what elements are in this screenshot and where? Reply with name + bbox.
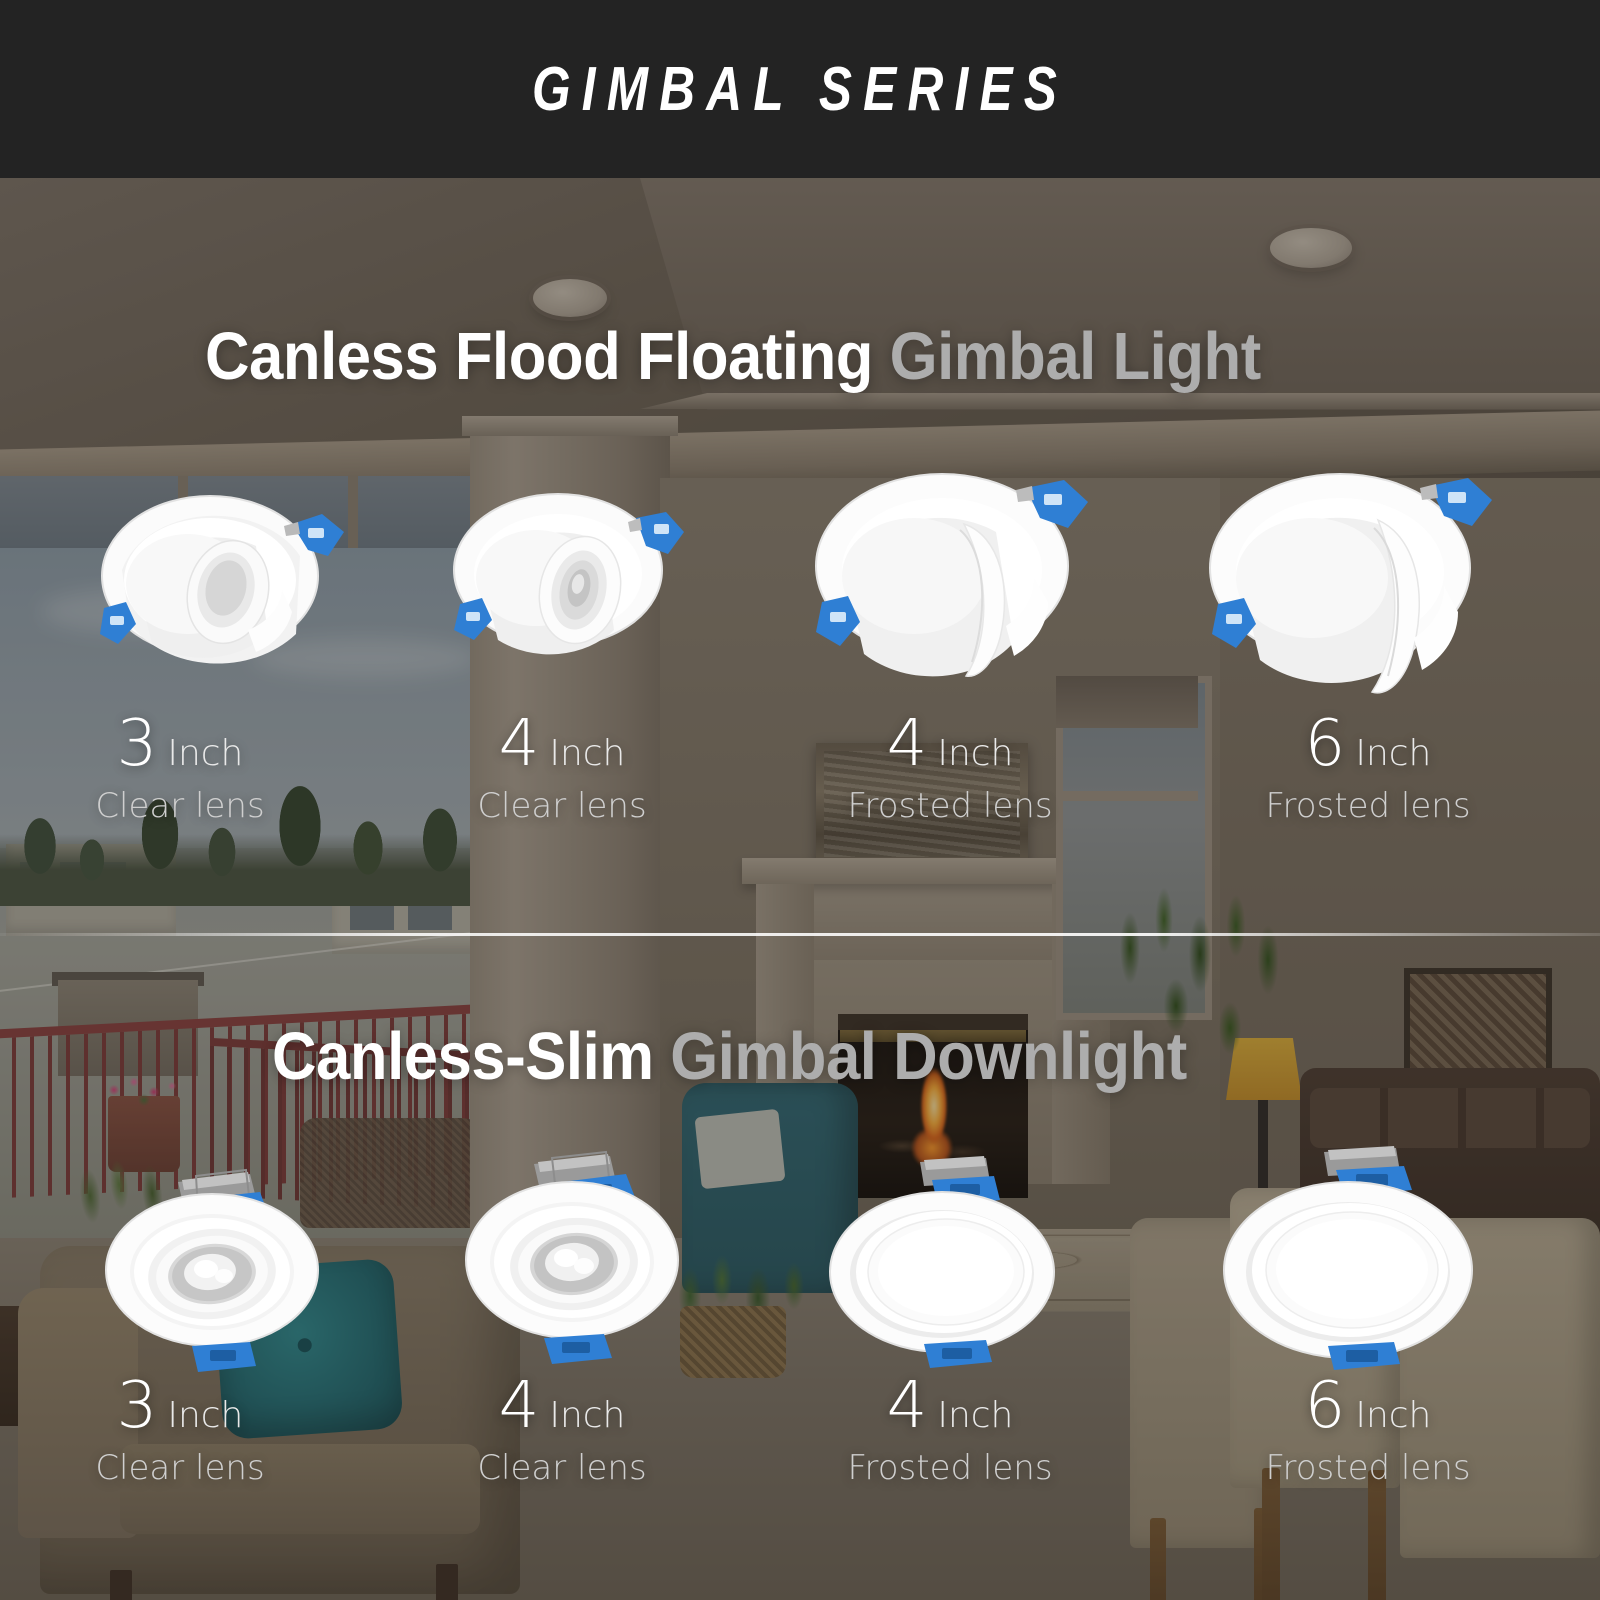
section-2-title: Canless-Slim Gimbal Downlight [272, 1018, 1187, 1095]
size-value: 4 [887, 707, 928, 781]
section-divider [0, 933, 1600, 936]
series-title: GIMBAL SERIES [532, 54, 1068, 125]
size-value: 4 [499, 707, 540, 781]
product-image-slim-4in-frosted[interactable] [820, 1148, 1090, 1360]
size-unit: Inch [937, 733, 1013, 774]
caption-flood-4in-frosted: 4Inch Frosted lens [800, 712, 1100, 826]
lens-type: Frosted lens [800, 786, 1100, 826]
product-image-slim-4in-clear[interactable] [462, 1142, 732, 1357]
product-image-flood-6in-frosted[interactable] [1200, 462, 1500, 702]
caption-flood-4in-clear: 4Inch Clear lens [412, 712, 712, 826]
size-unit: Inch [549, 733, 625, 774]
product-image-flood-4in-frosted[interactable] [800, 462, 1100, 692]
size-value: 6 [1305, 1369, 1346, 1443]
product-image-flood-4in-clear[interactable] [440, 478, 690, 668]
size-unit: Inch [167, 733, 243, 774]
size-unit: Inch [1355, 733, 1431, 774]
size-value: 4 [887, 1369, 928, 1443]
size-value: 4 [499, 1369, 540, 1443]
section-2-title-secondary: Gimbal Downlight [670, 1019, 1187, 1094]
caption-slim-4in-frosted: 4Inch Frosted lens [800, 1374, 1100, 1488]
section-1-title-secondary: Gimbal Light [890, 319, 1261, 394]
caption-slim-4in-clear: 4Inch Clear lens [412, 1374, 712, 1488]
lens-type: Clear lens [30, 1448, 330, 1488]
product-banner: GIMBAL SERIES [0, 0, 1600, 1600]
lens-type: Frosted lens [800, 1448, 1100, 1488]
size-unit: Inch [167, 1395, 243, 1436]
header-bar: GIMBAL SERIES [0, 0, 1600, 178]
caption-slim-3in: 3Inch Clear lens [30, 1374, 330, 1488]
size-unit: Inch [937, 1395, 1013, 1436]
section-1-title-primary: Canless Flood Floating [205, 319, 873, 394]
caption-flood-3in: 3Inch Clear lens [30, 712, 330, 826]
lens-type: Frosted lens [1218, 786, 1518, 826]
caption-slim-6in-frosted: 6Inch Frosted lens [1218, 1374, 1518, 1488]
size-value: 3 [117, 1369, 158, 1443]
product-image-flood-3in-clear[interactable] [60, 484, 360, 684]
lens-type: Clear lens [412, 786, 712, 826]
caption-flood-6in-frosted: 6Inch Frosted lens [1218, 712, 1518, 826]
size-value: 3 [117, 707, 158, 781]
size-unit: Inch [549, 1395, 625, 1436]
lens-type: Frosted lens [1218, 1448, 1518, 1488]
size-unit: Inch [1355, 1395, 1431, 1436]
section-2-title-primary: Canless-Slim [272, 1019, 654, 1094]
section-1-title: Canless Flood Floating Gimbal Light [205, 318, 1261, 395]
lens-type: Clear lens [30, 786, 330, 826]
size-value: 6 [1305, 707, 1346, 781]
lens-type: Clear lens [412, 1448, 712, 1488]
product-image-slim-3in-clear[interactable] [100, 1152, 370, 1362]
product-image-slim-6in-frosted[interactable] [1216, 1140, 1506, 1365]
